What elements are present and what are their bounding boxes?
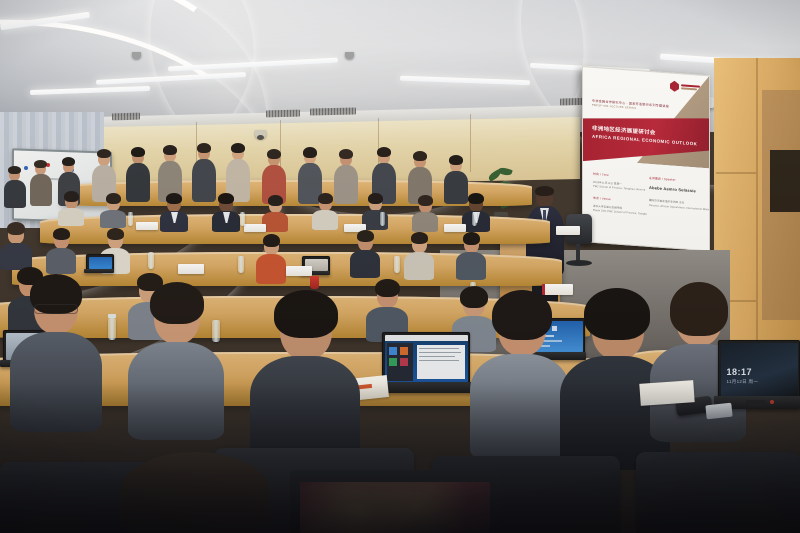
dome-camera-lens xyxy=(257,135,264,140)
air-vent xyxy=(266,110,300,118)
logo-wordmark xyxy=(681,84,700,90)
laptop-lock-screen[interactable]: 18:17 11月12日 周一 xyxy=(721,343,798,396)
attendee-foreground xyxy=(128,290,224,440)
attendee xyxy=(456,236,486,280)
attendee xyxy=(312,196,338,230)
attendee xyxy=(0,226,32,270)
organisation-logo xyxy=(670,80,700,93)
logo-mark-icon xyxy=(670,80,679,92)
lockscreen-time: 18:17 xyxy=(727,367,753,377)
attendee xyxy=(212,196,240,232)
air-vent xyxy=(112,113,140,121)
laptop-screen[interactable] xyxy=(385,335,468,382)
panel-seam xyxy=(470,114,471,172)
attendee xyxy=(350,234,380,278)
water-bottle xyxy=(394,256,400,273)
attendee xyxy=(46,232,76,274)
office-chair-base xyxy=(566,260,592,266)
handout-papers xyxy=(639,380,694,406)
attendee-silhouette xyxy=(120,452,270,533)
poster-time-label: 时间 / Time xyxy=(593,172,639,179)
attendee-name-card xyxy=(542,284,573,295)
water-bottle xyxy=(148,252,154,269)
wall-dark-recess xyxy=(770,150,800,212)
air-vent xyxy=(310,107,356,115)
lockscreen-date: 11月12日 周一 xyxy=(727,379,759,385)
attendee xyxy=(4,168,26,208)
panel-seam xyxy=(756,58,758,358)
attendee xyxy=(404,236,434,280)
lecture-hall-photo: 中非金融合作研究中心 · 国家开发银行系列专题讲座 PBCSF-IMF LECT… xyxy=(0,0,800,533)
water-bottle xyxy=(108,318,116,340)
attendee xyxy=(412,198,438,232)
attendee xyxy=(30,162,52,206)
phone[interactable] xyxy=(705,403,732,420)
poster-venue-label: 地点 / Venue xyxy=(593,196,639,203)
attendee xyxy=(126,150,150,202)
red-cup xyxy=(310,276,319,289)
event-poster-board: 中非金融合作研究中心 · 国家开发银行系列专题讲座 PBCSF-IMF LECT… xyxy=(582,66,710,251)
attendee-name-card xyxy=(556,226,580,235)
attendee xyxy=(58,194,84,226)
attendee-foreground xyxy=(250,300,360,470)
attendee-laptop-right[interactable]: 18:17 11月12日 周一 xyxy=(714,340,800,412)
speaker-hair xyxy=(535,186,554,196)
ceiling-sensor-icon xyxy=(345,52,354,59)
attendee-name-card xyxy=(136,222,158,230)
attendee-name-card xyxy=(444,224,466,232)
attendee-name-card xyxy=(178,264,204,274)
poster-speaker-label: 主讲嘉宾 / Speaker xyxy=(649,176,705,184)
water-bottle xyxy=(240,212,245,226)
attendee-foreground xyxy=(470,300,570,460)
water-bottle xyxy=(128,212,133,226)
laptop-screen-foreground[interactable] xyxy=(300,482,490,533)
attendee-laptop[interactable] xyxy=(378,332,474,394)
ceiling-sensor-icon xyxy=(132,52,141,59)
poster-surface: 中非金融合作研究中心 · 国家开发银行系列专题讲座 PBCSF-IMF LECT… xyxy=(582,66,710,251)
attendee-name-card xyxy=(244,224,266,232)
water-bottle xyxy=(472,212,477,226)
water-bottle xyxy=(380,212,385,226)
office-chair-foreground[interactable] xyxy=(636,452,800,533)
bottle-cap xyxy=(108,314,116,318)
attendee xyxy=(100,196,126,228)
eyeglasses-icon xyxy=(34,304,78,314)
attendee xyxy=(192,146,216,202)
attendee-laptop[interactable] xyxy=(84,254,114,274)
poster-speaker-name: Abebe Aemro Selassie xyxy=(649,185,709,194)
laptop-touchpad[interactable] xyxy=(746,400,766,406)
panel-seam xyxy=(716,172,756,174)
attendee xyxy=(256,238,286,284)
water-bottle xyxy=(238,256,244,273)
attendee-name-card xyxy=(286,266,312,276)
attendee xyxy=(160,196,188,232)
trackpoint-icon xyxy=(770,400,774,404)
